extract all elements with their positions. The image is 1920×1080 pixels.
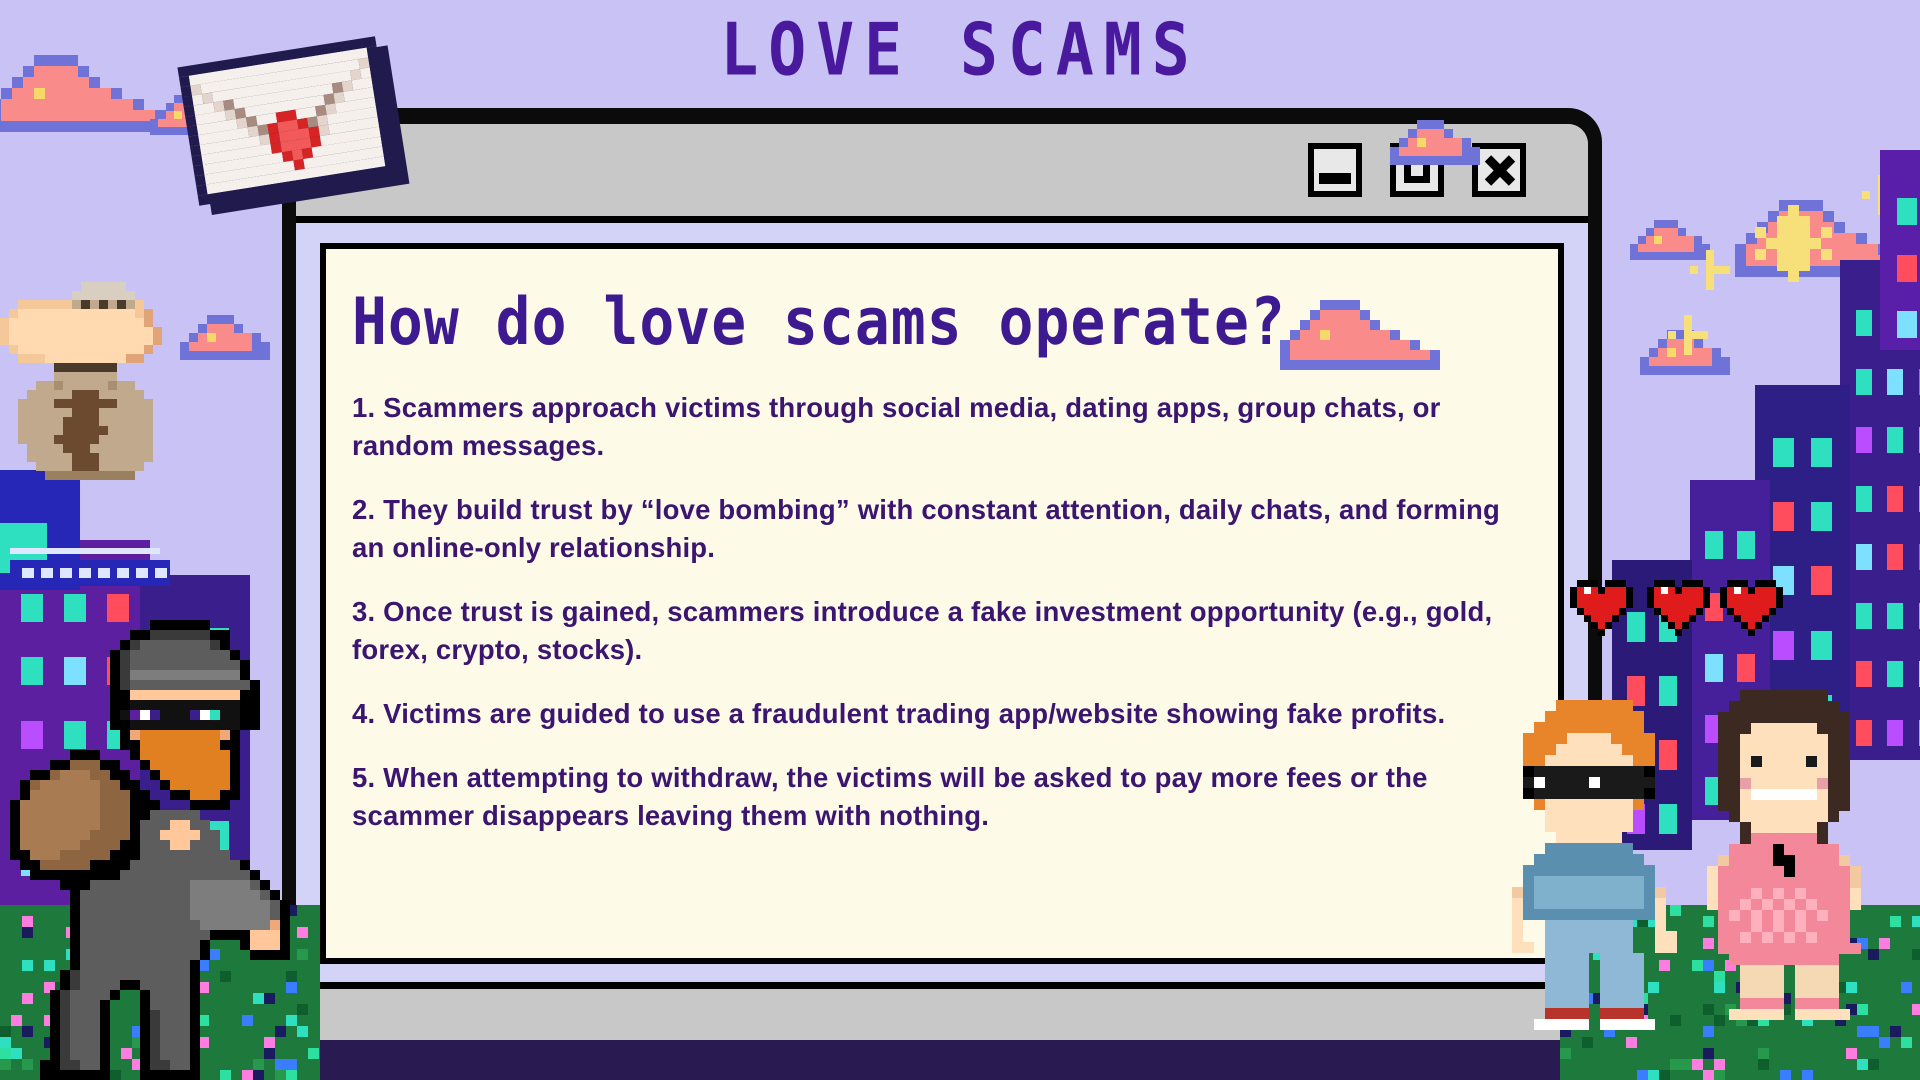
bush-pixel: [220, 1070, 231, 1080]
pixel-couple-holding-hands: [1512, 580, 1912, 1080]
bush-pixel: [286, 1070, 297, 1080]
building-window: [107, 594, 129, 622]
step-item: 2. They build trust by “love bombing” wi…: [352, 491, 1507, 567]
bush-pixel: [308, 1048, 319, 1059]
bush-pixel: [297, 949, 308, 960]
sign-dot: [22, 568, 34, 578]
building-window: [1887, 544, 1903, 570]
step-item: 1. Scammers approach victims through soc…: [352, 389, 1507, 465]
minimize-button[interactable]: [1308, 143, 1362, 197]
building-window: [1856, 427, 1872, 453]
building-window: [21, 594, 43, 622]
bush-pixel: [275, 1070, 286, 1080]
sign-dot: [60, 568, 72, 578]
bush-pixel: [242, 1070, 253, 1080]
laptop-frame: How do love scams operate? 1. Scammers a…: [282, 108, 1602, 1068]
building-window: [1897, 198, 1917, 225]
building-window: [1887, 369, 1903, 395]
sign-line: [10, 548, 160, 554]
sign-dot: [98, 568, 110, 578]
sign-dot: [136, 568, 148, 578]
city-building: [1880, 150, 1920, 350]
building-window: [1811, 502, 1832, 531]
bush-pixel: [110, 1070, 121, 1080]
bush-pixel: [297, 1026, 308, 1037]
bush-pixel: [297, 927, 308, 938]
sign-dot: [117, 568, 129, 578]
step-item: 3. Once trust is gained, scammers introd…: [352, 593, 1507, 669]
steps-list: 1. Scammers approach victims through soc…: [352, 389, 1532, 834]
close-button[interactable]: [1472, 143, 1526, 197]
sign-dot: [155, 568, 167, 578]
building-window: [1897, 255, 1917, 282]
building-window: [1856, 486, 1872, 512]
minimize-icon: [1319, 173, 1351, 184]
building-window: [1773, 502, 1794, 531]
bush-pixel: [253, 1070, 264, 1080]
building-window: [1887, 427, 1903, 453]
building-window: [1737, 531, 1755, 559]
poster-canvas: LOVE SCAMS How do love scams operate? 1.…: [0, 0, 1920, 1080]
building-window: [1856, 369, 1872, 395]
sign-dot: [79, 568, 91, 578]
hand-holding-money-bag: [0, 282, 150, 482]
building-window: [1856, 310, 1872, 336]
bush-pixel: [1912, 949, 1920, 960]
bush-pixel: [1912, 1004, 1920, 1015]
pixel-thief-character: [10, 620, 290, 1070]
building-window: [1887, 486, 1903, 512]
window-chrome: How do love scams operate? 1. Scammers a…: [296, 124, 1588, 1068]
building-window: [1897, 311, 1917, 338]
building-window: [64, 594, 86, 622]
building-window: [1773, 438, 1794, 467]
step-item: 4. Victims are guided to use a fraudulen…: [352, 695, 1507, 733]
window-titlebar: [296, 124, 1588, 216]
building-window: [1856, 544, 1872, 570]
bush-pixel: [1912, 916, 1920, 927]
building-window: [1811, 438, 1832, 467]
bush-pixel: [297, 1004, 308, 1015]
sign-dot: [41, 568, 53, 578]
step-item: 5. When attempting to withdraw, the vict…: [352, 759, 1507, 835]
building-window: [1705, 531, 1723, 559]
close-icon: [1482, 153, 1516, 187]
